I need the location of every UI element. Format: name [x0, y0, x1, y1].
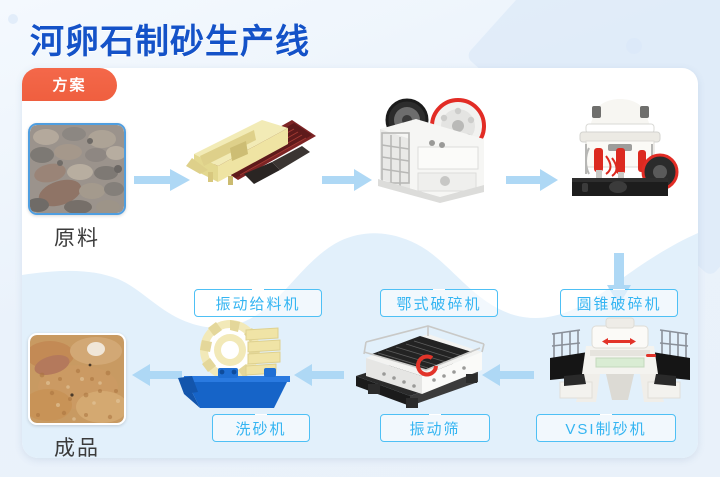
label-vibrating-screen[interactable]: 振动筛 — [380, 414, 490, 442]
production-line-infographic: 河卵石制砂生产线 方案 — [0, 0, 720, 477]
finished-product-photo — [28, 333, 126, 425]
vsi-sand-maker-illustration — [540, 316, 698, 412]
arrow-screen-to-washer — [294, 363, 344, 387]
label-text: 圆锥破碎机 — [576, 293, 661, 314]
page-title: 河卵石制砂生产线 — [30, 14, 310, 63]
arrow-washer-to-product — [132, 363, 182, 387]
arrow-raw-to-feeder — [134, 168, 190, 192]
label-vsi-sand-maker[interactable]: VSI制砂机 — [536, 414, 676, 442]
arrow-jaw-to-cone — [506, 168, 558, 192]
label-notch-icon — [251, 283, 265, 290]
arrow-feeder-to-jaw — [322, 168, 372, 192]
label-jaw-crusher[interactable]: 鄂式破碎机 — [380, 289, 498, 317]
scheme-tab[interactable]: 方案 — [22, 68, 117, 101]
label-text: 振动给料机 — [215, 293, 300, 314]
node-raw-material: 原料 — [28, 123, 126, 252]
label-text: 洗砂机 — [235, 418, 286, 439]
label-text: 振动筛 — [409, 418, 460, 439]
vibrating-screen-illustration — [350, 318, 490, 410]
label-text: 鄂式破碎机 — [396, 293, 481, 314]
label-notch-icon — [612, 283, 626, 290]
node-finished-product: 成品 — [28, 333, 126, 458]
cone-crusher-illustration — [556, 86, 686, 206]
label-notch-icon — [428, 408, 442, 415]
raw-material-photo — [28, 123, 126, 215]
flow-card: 方案 — [22, 68, 698, 458]
sand-washer-illustration — [178, 316, 294, 410]
background-dot-decoration — [626, 38, 642, 54]
label-sand-washer[interactable]: 洗砂机 — [212, 414, 310, 442]
vibrating-feeder-illustration — [184, 114, 319, 194]
label-vibrating-feeder[interactable]: 振动给料机 — [194, 289, 322, 317]
raw-material-caption: 原料 — [28, 222, 126, 252]
label-notch-icon — [599, 408, 613, 415]
jaw-crusher-illustration — [370, 93, 500, 203]
label-text: VSI制砂机 — [565, 418, 646, 439]
label-cone-crusher[interactable]: 圆锥破碎机 — [560, 289, 678, 317]
label-notch-icon — [432, 283, 446, 290]
label-notch-icon — [254, 408, 268, 415]
finished-product-caption: 成品 — [28, 432, 126, 458]
background-dot-decoration-secondary — [8, 14, 18, 24]
